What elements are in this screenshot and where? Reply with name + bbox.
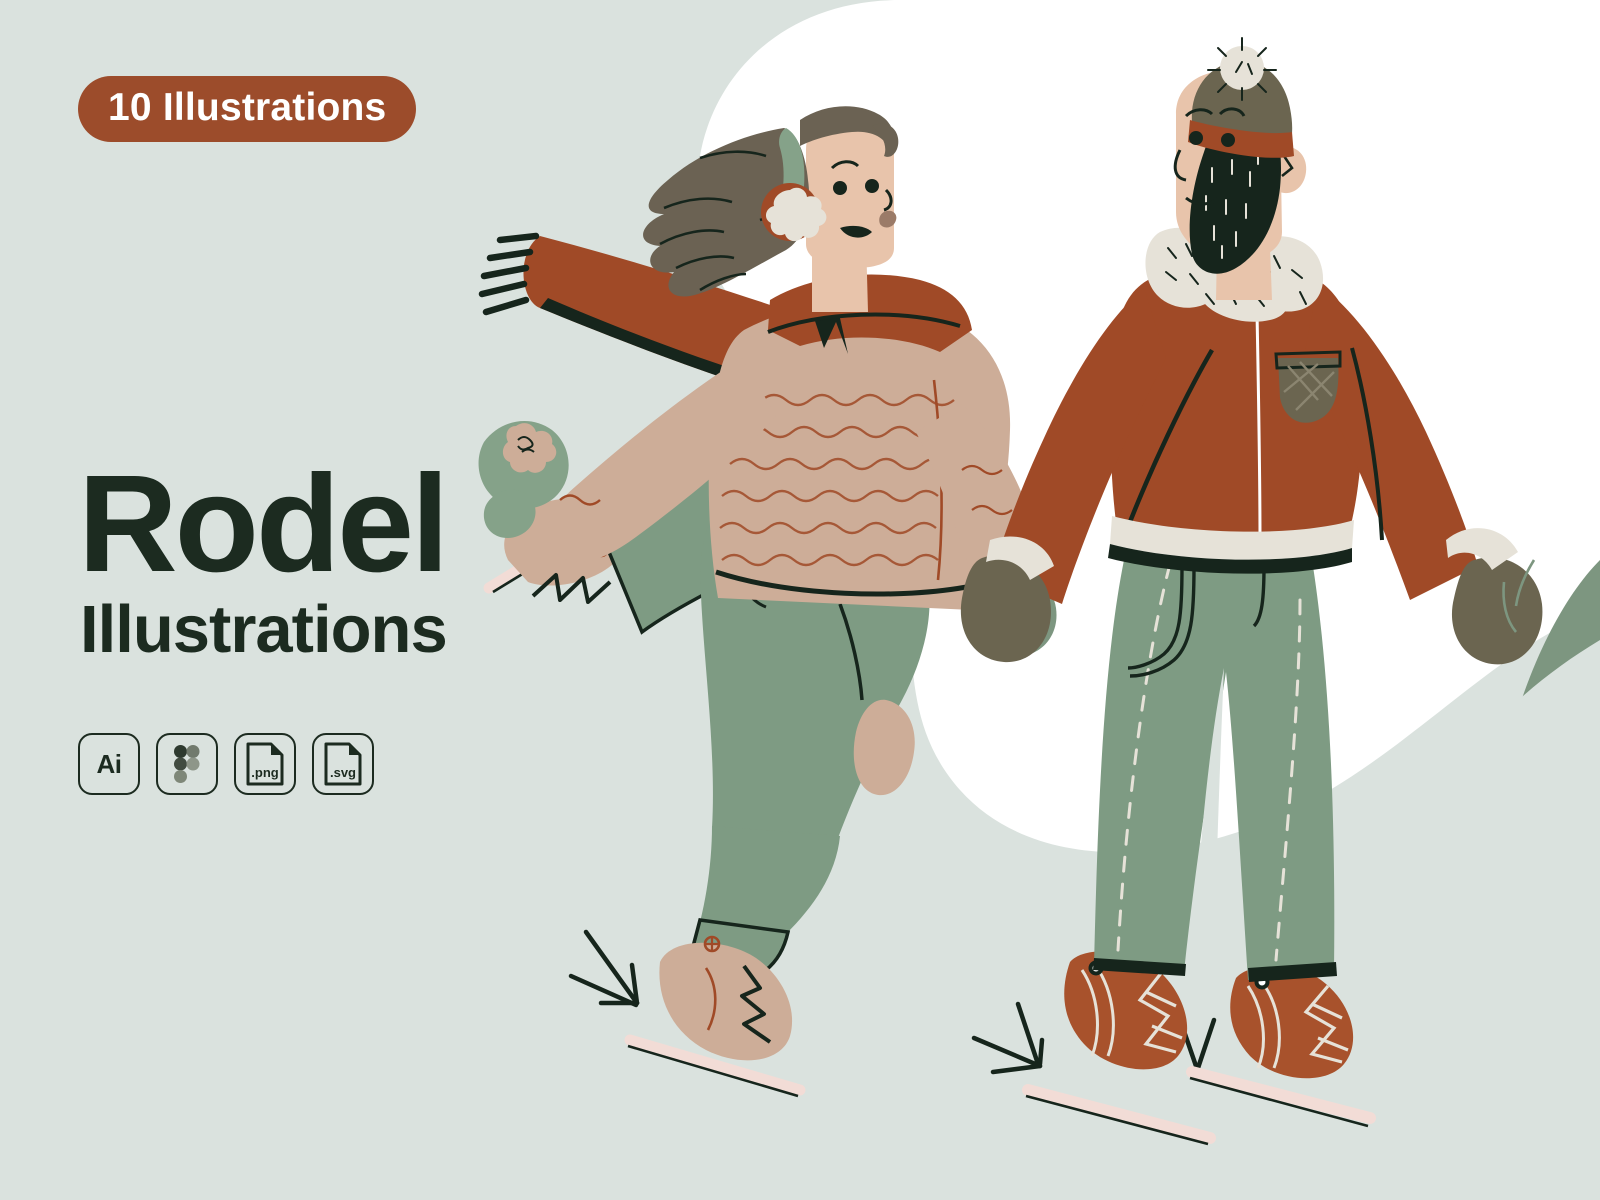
svg-file-icon: .svg	[323, 741, 363, 787]
eye-left	[833, 181, 847, 195]
info-column: 10 Illustrations Rodel Illustrations Ai	[0, 0, 470, 1200]
svg-text:.png: .png	[251, 765, 278, 780]
man-eye-right	[1221, 133, 1235, 147]
format-badge-svg[interactable]: .svg	[312, 733, 374, 795]
man-eye-left	[1189, 131, 1203, 145]
format-badge-list: Ai	[78, 733, 374, 795]
page-title: Rodel	[78, 455, 446, 593]
illustration-count-badge: 10 Illustrations	[78, 76, 416, 142]
page-subtitle: Illustrations	[80, 596, 447, 663]
format-badge-figma[interactable]	[156, 733, 218, 795]
svg-text:.svg: .svg	[330, 765, 356, 780]
poster-canvas: 10 Illustrations Rodel Illustrations Ai	[0, 0, 1600, 1200]
format-badge-ai[interactable]: Ai	[78, 733, 140, 795]
figma-icon	[174, 745, 200, 783]
adobe-illustrator-icon: Ai	[97, 749, 122, 780]
eye-right	[865, 179, 879, 193]
format-badge-png[interactable]: .png	[234, 733, 296, 795]
png-file-icon: .png	[245, 741, 285, 787]
